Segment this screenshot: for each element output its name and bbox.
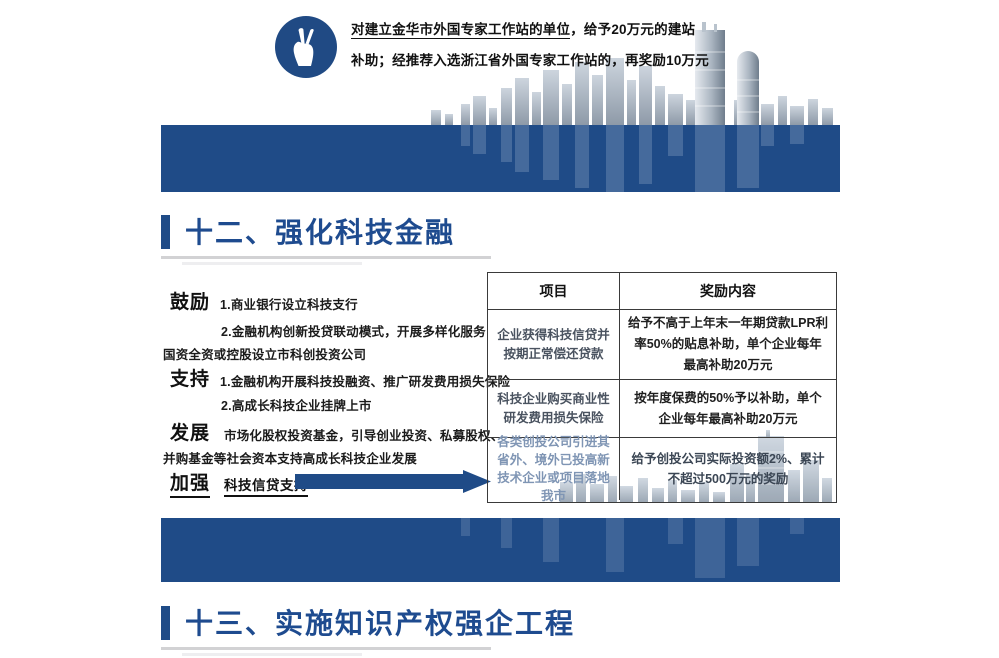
heading-rule-13-secondary — [182, 653, 362, 656]
section-title-12: 十二、强化科技金融 — [185, 211, 455, 251]
slide-page: 对建立金华市外国专家工作站的单位，给予20万元的建站 补助；经推荐入选浙江省外国… — [0, 0, 999, 658]
heading-rule-12 — [161, 256, 491, 259]
callout-text: 对建立金华市外国专家工作站的单位，给予20万元的建站 补助；经推荐入选浙江省外国… — [351, 14, 751, 76]
callout-line1-amount: 20 — [611, 22, 626, 37]
section-title-13: 十三、实施知识产权强企工程 — [185, 602, 575, 642]
table-cell-reward-0: 给予不高于上年末一年期贷款LPR利率50%的贴息补助，单个企业每年最高补助20万… — [620, 310, 836, 379]
callout-line1-mid: ，给予 — [570, 22, 611, 37]
heading-accent-bar-13 — [161, 606, 170, 640]
measure-keyword-strengthen: 加强 — [170, 468, 210, 498]
table-cell-item-0: 企业获得科技信贷并按期正常偿还贷款 — [488, 310, 620, 379]
measure-0-line-0: 1.商业银行设立科技支行 — [220, 294, 358, 313]
measure-2-line-0: 市场化股权投资基金，引导创业投资、私募股权、 — [224, 425, 503, 444]
victory-hand-icon — [275, 16, 337, 78]
measure-1-line-1: 2.高成长科技企业挂牌上市 — [221, 395, 372, 414]
table-header-reward: 奖励内容 — [620, 273, 836, 309]
heading-rule-13 — [161, 647, 491, 650]
table-cell-item-2: 各类创投公司引进其省外、境外已投高新技术企业或项目落地我市 — [488, 438, 620, 500]
heading-rule-12-secondary — [182, 262, 362, 265]
table-row: 企业获得科技信贷并按期正常偿还贷款 给予不高于上年末一年期贷款LPR利率50%的… — [488, 309, 836, 379]
incentive-table: 项目 奖励内容 企业获得科技信贷并按期正常偿还贷款 给予不高于上年末一年期贷款L… — [487, 272, 837, 503]
table-row: 各类创投公司引进其省外、境外已投高新技术企业或项目落地我市 给予创投公司实际投资… — [488, 437, 836, 500]
flow-arrow-icon — [295, 470, 491, 496]
measure-2-line-1: 并购基金等社会资本支持高成长科技企业发展 — [163, 448, 417, 467]
measure-keyword-develop: 发展 — [170, 418, 210, 445]
measure-1-line-0: 1.金融机构开展科技投融资、推广研发费用损失保险 — [220, 371, 510, 390]
heading-accent-bar-12 — [161, 215, 170, 249]
callout-line2-tail: 万元 — [682, 53, 709, 68]
table-cell-item-1: 科技企业购买商业性研发费用损失保险 — [488, 380, 620, 437]
table-row: 科技企业购买商业性研发费用损失保险 按年度保费的50%予以补助，单个企业每年最高… — [488, 379, 836, 437]
callout-line1-tail: 万元的建站 — [627, 22, 696, 37]
table-header-row: 项目 奖励内容 — [488, 273, 836, 309]
measure-0-line-1: 2.金融机构创新投贷联动模式，开展多样化服务 — [221, 321, 486, 340]
table-cell-reward-2: 给予创投公司实际投资额2%、累计不超过500万元的奖励 — [620, 438, 836, 500]
callout-line2-amount: 10 — [666, 53, 681, 68]
table-cell-reward-1: 按年度保费的50%予以补助，单个企业每年最高补助20万元 — [620, 380, 836, 437]
measure-0-line-2: 国资全资或控股设立市科创投资公司 — [163, 344, 366, 363]
skyline-graphic-bottom — [161, 518, 840, 582]
measure-keyword-support: 支持 — [170, 364, 210, 391]
top-callout: 对建立金华市外国专家工作站的单位，给予20万元的建站 补助；经推荐入选浙江省外国… — [275, 14, 745, 90]
callout-line1-underlined: 对建立金华市外国专家工作站的单位 — [351, 22, 570, 39]
measure-keyword-encourage: 鼓励 — [170, 287, 210, 314]
table-header-item: 项目 — [488, 273, 620, 309]
callout-line2-head: 补助；经推荐入选浙江省外国专家工作站的，再奖励 — [351, 53, 666, 68]
